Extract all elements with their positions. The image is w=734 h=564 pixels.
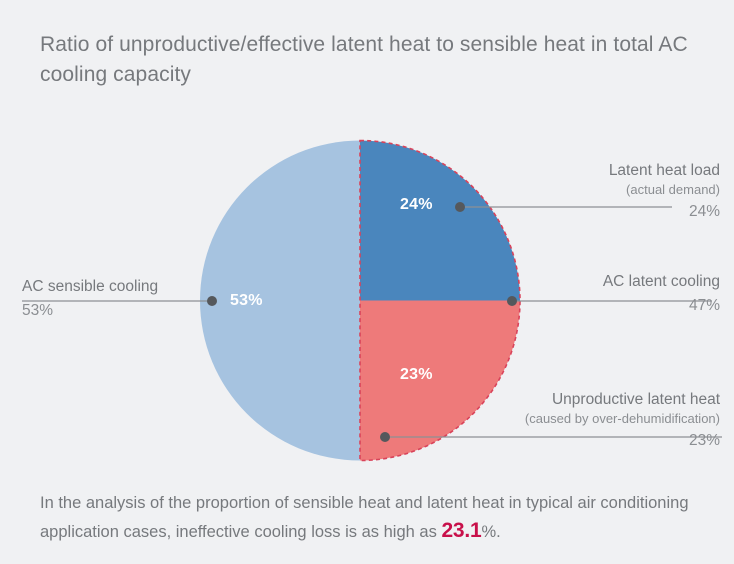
footer-lead-text: In the analysis of the proportion of sen… xyxy=(40,494,689,541)
callout-sensible-label: AC sensible cooling xyxy=(22,277,222,297)
callout-ac-latent: AC latent cooling 47% xyxy=(420,272,720,316)
callout-sensible-value: 53% xyxy=(22,301,222,321)
callout-unproductive: Unproductive latent heat (caused by over… xyxy=(400,390,720,451)
pie-chart: 53% 24% 23% AC sensible cooling 53% Late… xyxy=(0,0,734,564)
leader-dot-unproductive xyxy=(380,432,390,442)
callout-ac-latent-label: AC latent cooling xyxy=(420,272,720,292)
callout-latent-load-sublabel: (actual demand) xyxy=(420,181,720,198)
callout-unproductive-label: Unproductive latent heat xyxy=(400,390,720,410)
callout-latent-load: Latent heat load (actual demand) 24% xyxy=(420,161,720,222)
slice-value-sensible: 53% xyxy=(230,292,263,310)
footer-caption: In the analysis of the proportion of sen… xyxy=(40,489,710,546)
callout-sensible: AC sensible cooling 53% xyxy=(22,277,222,321)
callout-latent-load-value: 24% xyxy=(420,202,720,222)
callout-ac-latent-value: 47% xyxy=(420,296,720,316)
slice-value-unproductive: 23% xyxy=(400,366,433,384)
pie-slice-sensible[interactable] xyxy=(200,141,360,461)
chart-page: Ratio of unproductive/effective latent h… xyxy=(0,0,734,564)
callout-latent-load-label: Latent heat load xyxy=(420,161,720,181)
footer-tail-text: %. xyxy=(482,523,501,541)
callout-unproductive-value: 23% xyxy=(400,431,720,451)
callout-unproductive-sublabel: (caused by over-dehumidification) xyxy=(400,410,720,427)
footer-accent-value: 23.1 xyxy=(441,519,481,542)
